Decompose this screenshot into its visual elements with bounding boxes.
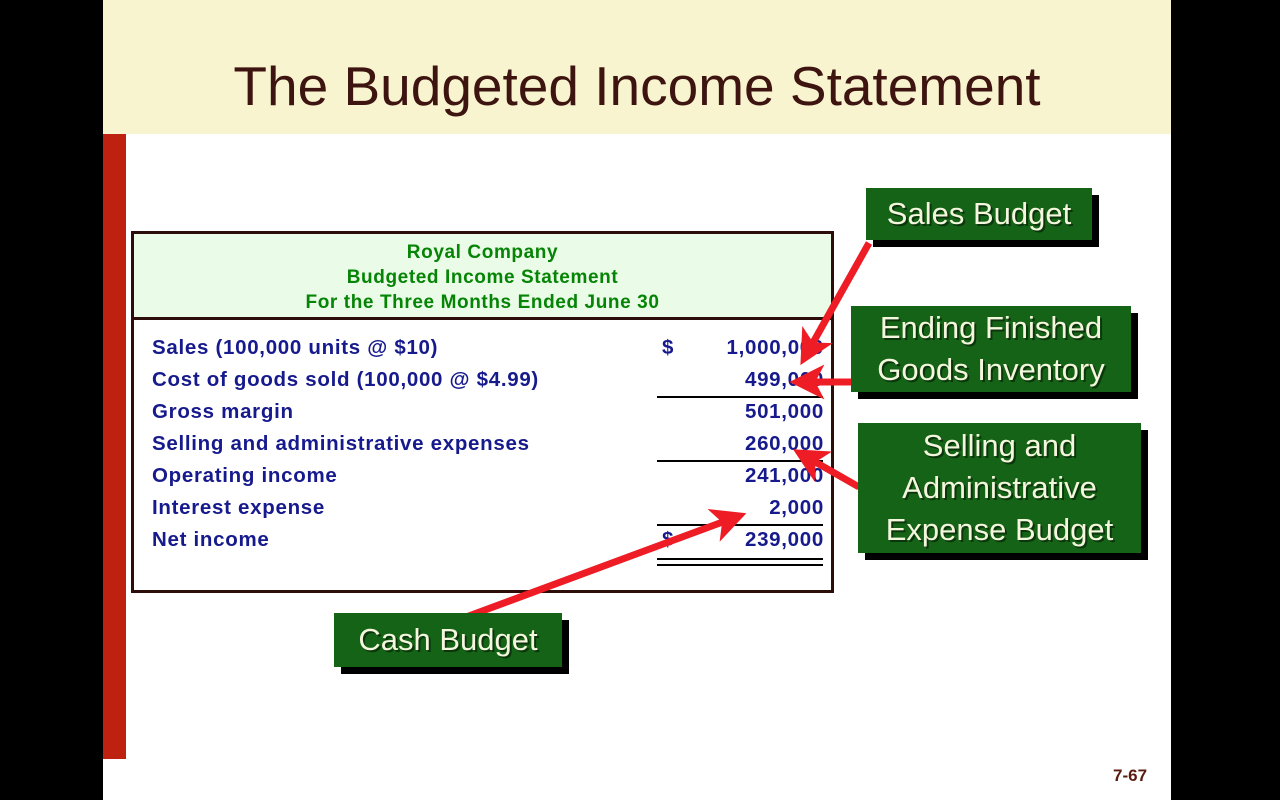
- statement-header: Royal Company Budgeted Income Statement …: [134, 234, 831, 320]
- statement-title: Budgeted Income Statement: [134, 265, 831, 290]
- callout-line: Selling and: [923, 425, 1076, 467]
- row-label-sales: Sales (100,000 units @ $10): [152, 336, 438, 360]
- row-label-sga: Selling and administrative expenses: [152, 432, 530, 456]
- cash-budget-callout[interactable]: Cash Budget: [334, 613, 562, 667]
- callout-line: Goods Inventory: [877, 349, 1104, 391]
- callout-line: Sales Budget: [887, 197, 1071, 231]
- finished-goods-callout[interactable]: Ending Finished Goods Inventory: [851, 306, 1131, 392]
- row-currency-sales: $: [662, 336, 673, 360]
- sales-budget-callout[interactable]: Sales Budget: [866, 188, 1092, 240]
- page-title: The Budgeted Income Statement: [103, 56, 1171, 116]
- row-label-cogs: Cost of goods sold (100,000 @ $4.99): [152, 368, 539, 392]
- row-label-operating-income: Operating income: [152, 464, 337, 488]
- table-row: Interest expense 2,000: [134, 492, 831, 524]
- operating-income-amount: 241,000: [674, 464, 824, 488]
- cogs-amount: 499,000: [674, 368, 824, 392]
- row-label-net-income: Net income: [152, 528, 270, 552]
- callout-line: Expense Budget: [886, 509, 1114, 551]
- sga-callout[interactable]: Selling and Administrative Expense Budge…: [858, 423, 1141, 553]
- row-label-gross-margin: Gross margin: [152, 400, 294, 424]
- table-row: Net income $ 239,000: [134, 524, 831, 556]
- page-number: 7-67: [1113, 766, 1147, 786]
- callout-line: Cash Budget: [358, 623, 537, 657]
- row-currency-net-income: $: [662, 528, 673, 552]
- presentation-slide: The Budgeted Income Statement Royal Comp…: [103, 0, 1171, 800]
- budgeted-income-statement-table: Royal Company Budgeted Income Statement …: [131, 231, 834, 593]
- gross-margin-amount: 501,000: [674, 400, 824, 424]
- accent-bar: [103, 134, 126, 759]
- net-income-amount: 239,000: [674, 528, 824, 552]
- interest-expense-amount: 2,000: [674, 496, 824, 520]
- statement-company-name: Royal Company: [134, 240, 831, 265]
- callout-line: Ending Finished: [880, 307, 1102, 349]
- callout-line: Administrative: [902, 467, 1097, 509]
- table-row: Cost of goods sold (100,000 @ $4.99) 499…: [134, 364, 831, 396]
- row-label-interest-expense: Interest expense: [152, 496, 325, 520]
- table-row: Sales (100,000 units @ $10) $ 1,000,000: [134, 332, 831, 364]
- sales-amount: 1,000,000: [674, 336, 824, 360]
- table-row: Gross margin 501,000: [134, 396, 831, 428]
- statement-period: For the Three Months Ended June 30: [134, 290, 831, 315]
- screenshot-stage: The Budgeted Income Statement Royal Comp…: [0, 0, 1280, 800]
- table-row: Selling and administrative expenses 260,…: [134, 428, 831, 460]
- statement-body: Sales (100,000 units @ $10) $ 1,000,000 …: [134, 320, 831, 556]
- table-row: Operating income 241,000: [134, 460, 831, 492]
- sga-amount: 260,000: [674, 432, 824, 456]
